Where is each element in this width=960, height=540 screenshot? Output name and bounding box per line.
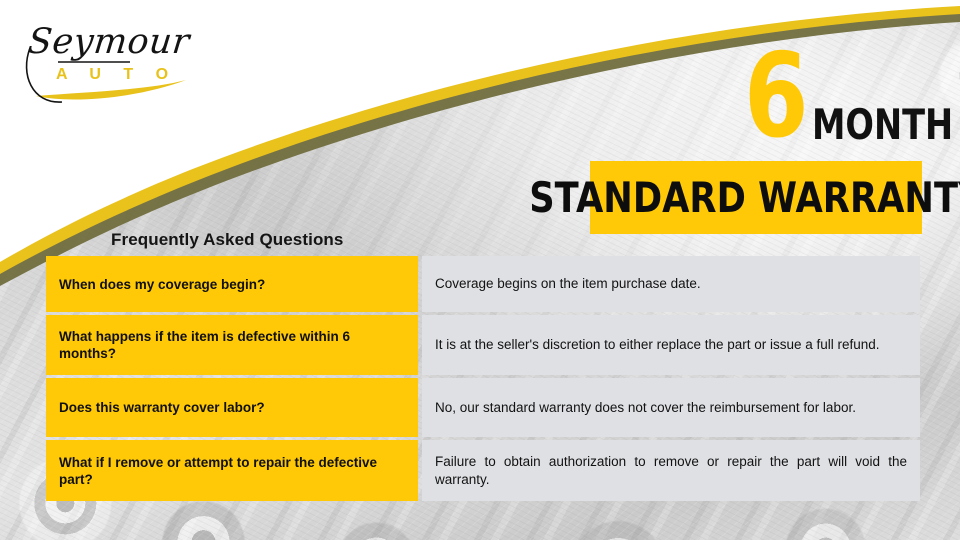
faq-answer-cell: No, our standard warranty does not cover… — [422, 378, 920, 437]
warranty-duration-unit: MONTH — [812, 104, 953, 146]
faq-answer-cell: It is at the seller's discretion to eith… — [422, 315, 920, 375]
table-row: What if I remove or attempt to repair th… — [46, 440, 920, 501]
faq-answer-cell: Failure to obtain authorization to remov… — [422, 440, 920, 501]
faq-answer-cell: Coverage begins on the item purchase dat… — [422, 256, 920, 312]
standard-warranty-banner: STANDARD WARRANTY — [590, 161, 922, 234]
faq-section-title: Frequently Asked Questions — [111, 230, 343, 250]
warranty-faq-slide: Seymour A U T O 6 MONTH STANDARD WARRANT… — [0, 0, 960, 540]
faq-question-cell: Does this warranty cover labor? — [46, 378, 418, 437]
faq-question-cell: What if I remove or attempt to repair th… — [46, 440, 418, 501]
table-row: When does my coverage begin? Coverage be… — [46, 256, 920, 312]
faq-question-cell: What happens if the item is defective wi… — [46, 315, 418, 375]
standard-warranty-label: STANDARD WARRANTY — [529, 177, 960, 219]
table-row: What happens if the item is defective wi… — [46, 315, 920, 375]
warranty-duration-number: 6 — [744, 42, 807, 152]
faq-question-cell: When does my coverage begin? — [46, 256, 418, 312]
faq-table: When does my coverage begin? Coverage be… — [46, 256, 920, 501]
warranty-headline: 6 MONTH STANDARD WARRANTY — [0, 0, 960, 250]
table-row: Does this warranty cover labor? No, our … — [46, 378, 920, 437]
